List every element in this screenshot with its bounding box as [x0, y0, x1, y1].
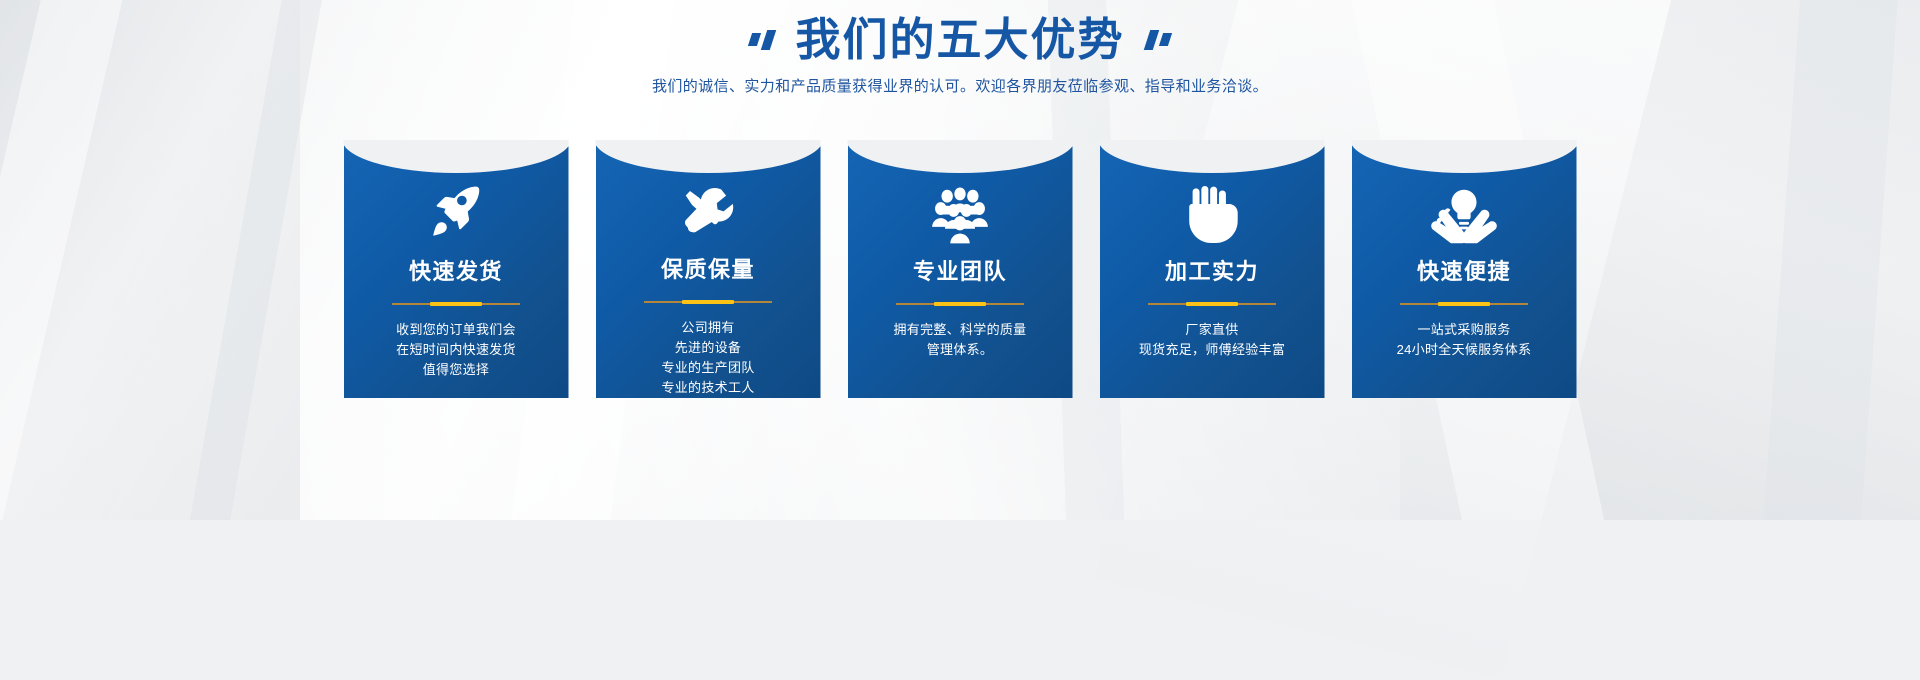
card-title: 加工实力 — [1165, 254, 1259, 286]
card-desc-line: 厂家直供 — [1139, 320, 1285, 340]
advantage-card-list: 快速发货 收到您的订单我们会 在短时间内快速发货 值得您选择 保质保量 公司拥有 — [0, 140, 1920, 405]
hands-lightbulb-icon — [1431, 140, 1497, 250]
card-title: 专业团队 — [913, 254, 1007, 286]
advantage-card-fast-convenient[interactable]: 快速便捷 一站式采购服务 24小时全天候服务体系 — [1352, 140, 1577, 398]
rocket-icon — [425, 140, 487, 250]
fist-hand-icon — [1184, 140, 1240, 250]
card-desc-line: 专业的技术工人 — [661, 378, 754, 398]
card-description: 拥有完整、科学的质量 管理体系。 — [893, 320, 1026, 360]
card-desc-line: 在短时间内快速发货 — [396, 340, 516, 360]
card-description: 公司拥有 先进的设备 专业的生产团队 专业的技术工人 — [661, 318, 754, 398]
card-desc-line: 一站式采购服务 — [1397, 320, 1532, 340]
page-title: 我们的五大优势 — [795, 17, 1124, 62]
card-desc-line: 管理体系。 — [893, 340, 1026, 360]
advantage-card-fast-shipping[interactable]: 快速发货 收到您的订单我们会 在短时间内快速发货 值得您选择 — [344, 140, 569, 398]
card-description: 一站式采购服务 24小时全天候服务体系 — [1397, 320, 1532, 360]
card-desc-line: 公司拥有 — [661, 318, 754, 338]
title-row: 我们的五大优势 — [750, 17, 1169, 62]
card-divider — [896, 303, 1024, 305]
card-title: 快速发货 — [409, 254, 503, 286]
card-desc-line: 拥有完整、科学的质量 — [893, 320, 1026, 340]
card-divider — [644, 301, 772, 303]
section-header: 我们的五大优势 我们的诚信、实力和产品质量获得业界的认可。欢迎各界朋友莅临参观、… — [0, 0, 1920, 130]
card-desc-line: 24小时全天候服务体系 — [1397, 340, 1532, 360]
card-divider — [1148, 303, 1276, 305]
advantage-card-quality-guarantee[interactable]: 保质保量 公司拥有 先进的设备 专业的生产团队 专业的技术工人 — [596, 140, 821, 398]
card-description: 厂家直供 现货充足，师傅经验丰富 — [1139, 320, 1285, 360]
advantage-card-processing-strength[interactable]: 加工实力 厂家直供 现货充足，师傅经验丰富 — [1100, 140, 1325, 398]
card-desc-line: 收到您的订单我们会 — [396, 320, 516, 340]
card-divider — [1400, 303, 1528, 305]
slash-decoration-right-icon — [1147, 30, 1170, 50]
people-group-icon — [927, 140, 993, 250]
card-desc-line: 值得您选择 — [396, 360, 516, 380]
card-title: 保质保量 — [661, 252, 755, 284]
tools-wrench-screwdriver-icon — [678, 140, 738, 248]
card-divider — [392, 303, 520, 305]
card-desc-line: 先进的设备 — [661, 338, 754, 358]
card-desc-line: 现货充足，师傅经验丰富 — [1139, 340, 1285, 360]
slash-decoration-left-icon — [750, 30, 773, 50]
card-description: 收到您的订单我们会 在短时间内快速发货 值得您选择 — [396, 320, 516, 380]
card-title: 快速便捷 — [1417, 254, 1511, 286]
card-desc-line: 专业的生产团队 — [661, 358, 754, 378]
page-subtitle: 我们的诚信、实力和产品质量获得业界的认可。欢迎各界朋友莅临参观、指导和业务洽谈。 — [652, 75, 1268, 96]
advantage-card-professional-team[interactable]: 专业团队 拥有完整、科学的质量 管理体系。 — [848, 140, 1073, 398]
